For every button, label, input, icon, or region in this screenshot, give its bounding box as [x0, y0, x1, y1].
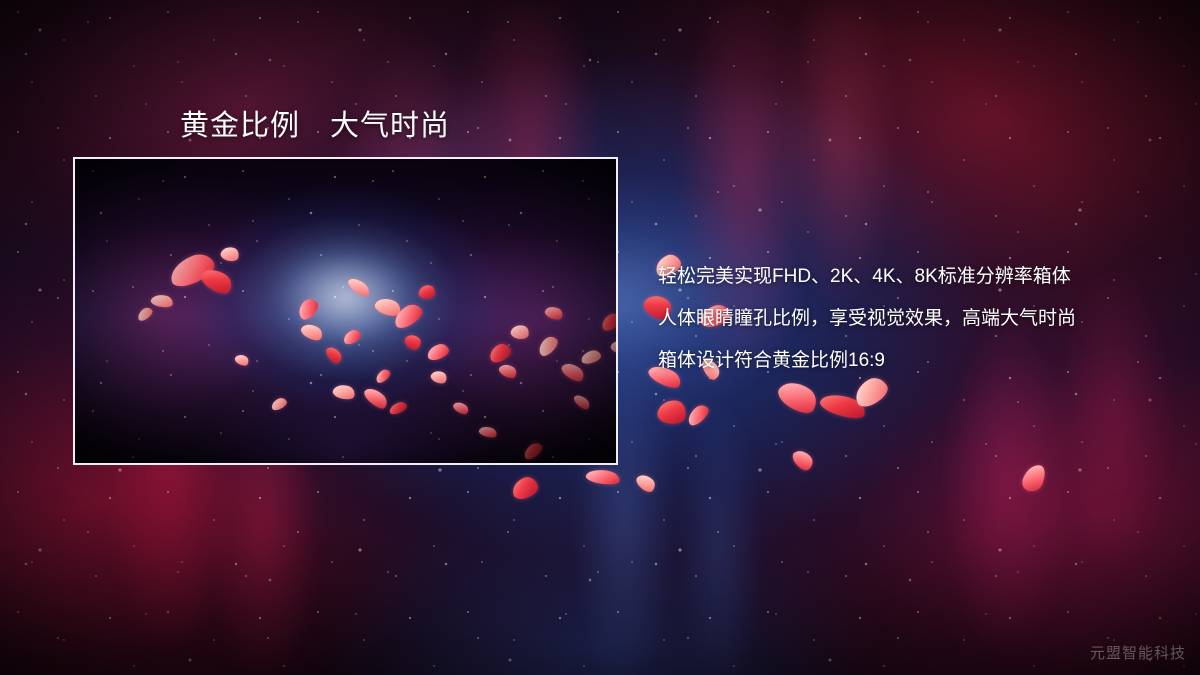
- rose-petal: [585, 467, 621, 487]
- presentation-slide: 黄金比例 大气时尚 轻松完美实现FHD、2K、4K、8K标准分辨率箱体 人体眼睛…: [0, 0, 1200, 675]
- rose-petal: [634, 471, 658, 495]
- rose-petal: [684, 402, 711, 428]
- body-line-3: 箱体设计符合黄金比例16:9: [658, 340, 1178, 382]
- rose-petal: [656, 397, 688, 426]
- picture-vignette: [75, 159, 616, 463]
- watermark: 元盟智能科技: [1090, 642, 1186, 663]
- body-line-1: 轻松完美实现FHD、2K、4K、8K标准分辨率箱体: [658, 256, 1178, 298]
- page-title: 黄金比例 大气时尚: [180, 102, 450, 144]
- rose-petal: [818, 389, 868, 422]
- body-copy: 轻松完美实现FHD、2K、4K、8K标准分辨率箱体 人体眼睛瞳孔比例，享受视觉效…: [658, 256, 1178, 382]
- framed-picture: [73, 157, 618, 465]
- rose-petal: [510, 474, 541, 501]
- rose-petal: [1019, 461, 1048, 494]
- body-line-2: 人体眼睛瞳孔比例，享受视觉效果，高端大气时尚: [658, 298, 1178, 340]
- rose-petal: [790, 446, 816, 473]
